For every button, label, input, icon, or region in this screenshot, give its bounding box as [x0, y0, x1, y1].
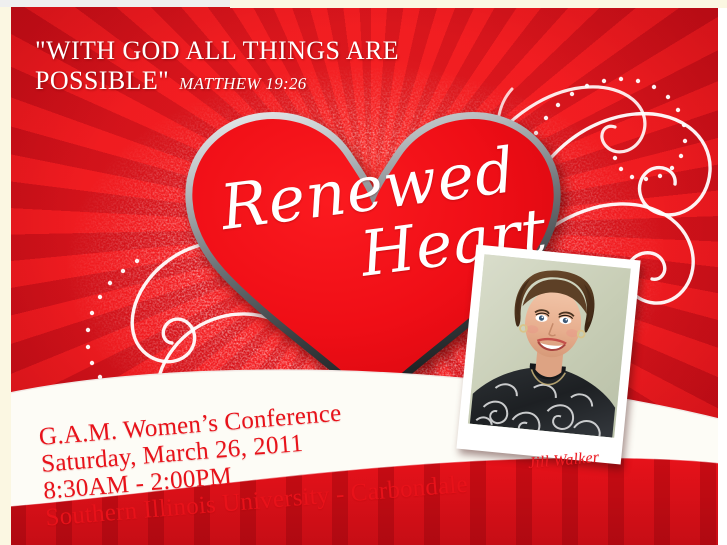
- left-page-margin: [0, 0, 11, 545]
- scripture-line-1: "WITH GOD ALL THINGS ARE: [35, 36, 475, 66]
- speaker-photo-frame: [456, 244, 640, 464]
- avatar: [468, 254, 631, 438]
- scripture-headline: "WITH GOD ALL THINGS ARE POSSIBLE"MATTHE…: [35, 36, 475, 99]
- scripture-line-2-wrap: POSSIBLE"MATTHEW 19:26: [35, 66, 475, 99]
- poster-canvas: "WITH GOD ALL THINGS ARE POSSIBLE"MATTHE…: [0, 0, 727, 545]
- right-page-margin: [718, 0, 727, 545]
- top-page-margin-cream: [230, 0, 727, 8]
- scripture-reference: MATTHEW 19:26: [179, 74, 306, 93]
- scripture-line-2: POSSIBLE": [35, 66, 169, 95]
